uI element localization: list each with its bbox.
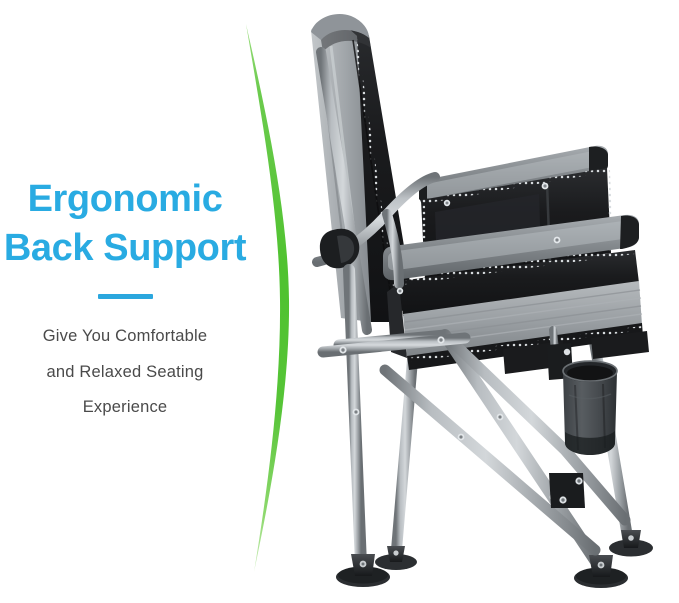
- page-title: Ergonomic Back Support: [0, 175, 250, 272]
- subtitle-line-1: Give You Comfortable: [0, 319, 250, 354]
- headline-line-2: Back Support: [0, 224, 250, 273]
- product-feature-banner: Ergonomic Back Support Give You Comforta…: [0, 0, 679, 603]
- product-image-camping-chair: [295, 0, 679, 603]
- subtitle-line-2: and Relaxed Seating: [0, 355, 250, 390]
- text-block: Ergonomic Back Support Give You Comforta…: [0, 175, 250, 426]
- subtitle-text: Give You Comfortable and Relaxed Seating…: [0, 319, 250, 425]
- headline-line-1: Ergonomic: [0, 175, 250, 224]
- arc-shape: [246, 24, 289, 572]
- subtitle-line-3: Experience: [0, 390, 250, 425]
- leg-clamp: [549, 473, 585, 508]
- title-divider: [98, 294, 153, 299]
